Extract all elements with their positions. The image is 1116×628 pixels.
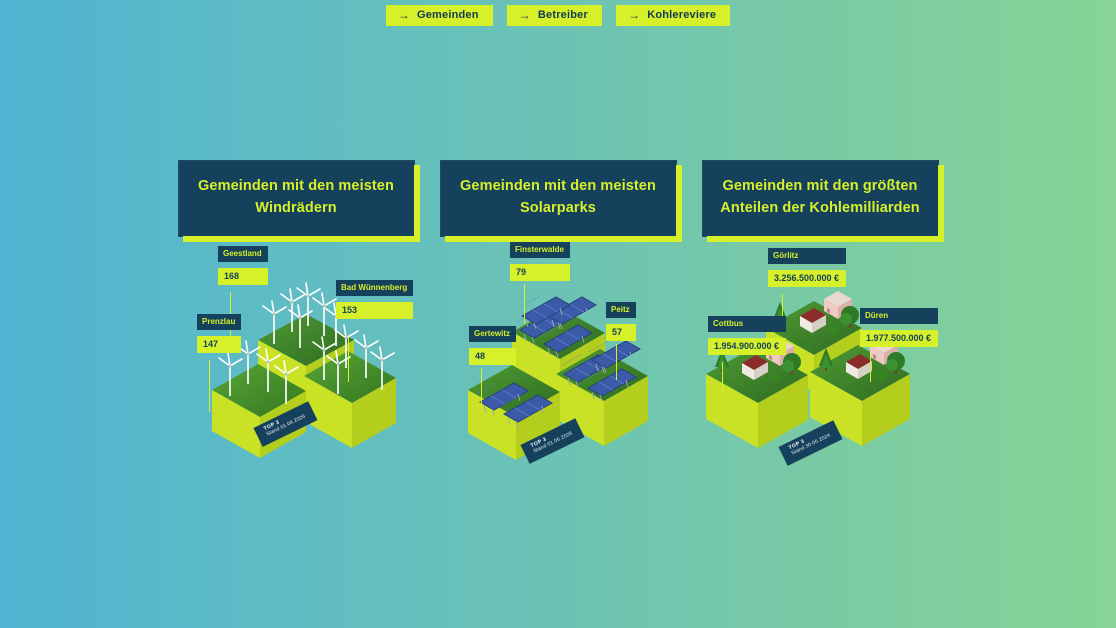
label-name: Prenzlau — [197, 314, 241, 330]
label-value: 147 — [197, 336, 241, 353]
card-solar[interactable]: Gemeinden mit den meisten Solarparks — [440, 160, 677, 237]
card-title-line2: Windrädern — [255, 200, 336, 216]
label-stem — [722, 362, 723, 392]
top-navigation: → Gemeinden → Betreiber → Kohlereviere — [0, 5, 1116, 26]
arrow-right-icon: → — [398, 9, 410, 21]
nav-button-kohlereviere[interactable]: → Kohlereviere — [616, 5, 730, 26]
label-stem — [348, 336, 349, 382]
label-name: Bad Wünnenberg — [336, 280, 413, 296]
label-value: 168 — [218, 268, 268, 285]
label-cottbus[interactable]: Cottbus 1.954.900.000 € — [708, 316, 786, 355]
label-goerlitz[interactable]: Görlitz 3.256.500.000 € — [768, 248, 846, 287]
label-value: 3.256.500.000 € — [768, 270, 846, 287]
label-prenzlau[interactable]: Prenzlau 147 — [197, 314, 241, 353]
card-wind[interactable]: Gemeinden mit den meisten Windrädern — [178, 160, 415, 237]
illustration-row: Geestland 168 Bad Wünnenberg 153 Prenzla… — [0, 232, 1116, 492]
label-dueren[interactable]: Düren 1.977.500.000 € — [860, 308, 938, 347]
label-peitz[interactable]: Peitz 57 — [606, 302, 636, 341]
label-value: 57 — [606, 324, 636, 341]
card-title-line2: Solarparks — [520, 200, 596, 216]
label-name: Görlitz — [768, 248, 846, 264]
nav-button-betreiber[interactable]: → Betreiber — [507, 5, 602, 26]
label-name: Düren — [860, 308, 938, 324]
label-stem — [209, 360, 210, 412]
card-title-wind: Gemeinden mit den meisten Windrädern — [178, 160, 415, 237]
label-bad-wuennenberg[interactable]: Bad Wünnenberg 153 — [336, 280, 413, 319]
label-value: 1.977.500.000 € — [860, 330, 938, 347]
card-header-row: Gemeinden mit den meisten Windrädern Gem… — [0, 160, 1116, 237]
label-geestland[interactable]: Geestland 168 — [218, 246, 268, 285]
arrow-right-icon: → — [519, 9, 531, 21]
nav-button-label: Betreiber — [538, 10, 588, 21]
nav-button-label: Gemeinden — [417, 10, 479, 21]
label-value: 79 — [510, 264, 570, 281]
label-name: Gertewitz — [469, 326, 516, 342]
card-title-coal: Gemeinden mit den größten Anteilen der K… — [702, 160, 939, 237]
wind-turbines-scene: Geestland 168 Bad Wünnenberg 153 Prenzla… — [196, 232, 411, 482]
label-stem — [481, 368, 482, 408]
arrow-right-icon: → — [628, 9, 640, 21]
label-finsterwalde[interactable]: Finsterwalde 79 — [510, 242, 570, 281]
label-stem — [870, 354, 871, 382]
card-title-line2: Anteilen der Kohlemilliarden — [720, 200, 919, 216]
card-title-line1: Gemeinden mit den größten — [722, 178, 917, 194]
label-name: Finsterwalde — [510, 242, 570, 258]
label-name: Geestland — [218, 246, 268, 262]
card-coal[interactable]: Gemeinden mit den größten Anteilen der K… — [702, 160, 939, 237]
label-value: 48 — [469, 348, 516, 365]
label-stem — [524, 284, 525, 324]
card-title-solar: Gemeinden mit den meisten Solarparks — [440, 160, 677, 237]
label-gertewitz[interactable]: Gertewitz 48 — [469, 326, 516, 365]
label-name: Peitz — [606, 302, 636, 318]
nav-button-gemeinden[interactable]: → Gemeinden — [386, 5, 493, 26]
card-title-line1: Gemeinden mit den meisten — [198, 178, 394, 194]
label-value: 153 — [336, 302, 413, 319]
label-value: 1.954.900.000 € — [708, 338, 786, 355]
solar-parks-scene: Finsterwalde 79 Peitz 57 Gertewitz 48 TO… — [460, 232, 655, 482]
villages-coal-scene: Görlitz 3.256.500.000 € Düren 1.977.500.… — [700, 232, 935, 482]
label-stem — [616, 344, 617, 380]
label-name: Cottbus — [708, 316, 786, 332]
card-title-line1: Gemeinden mit den meisten — [460, 178, 656, 194]
nav-button-label: Kohlereviere — [647, 10, 716, 21]
